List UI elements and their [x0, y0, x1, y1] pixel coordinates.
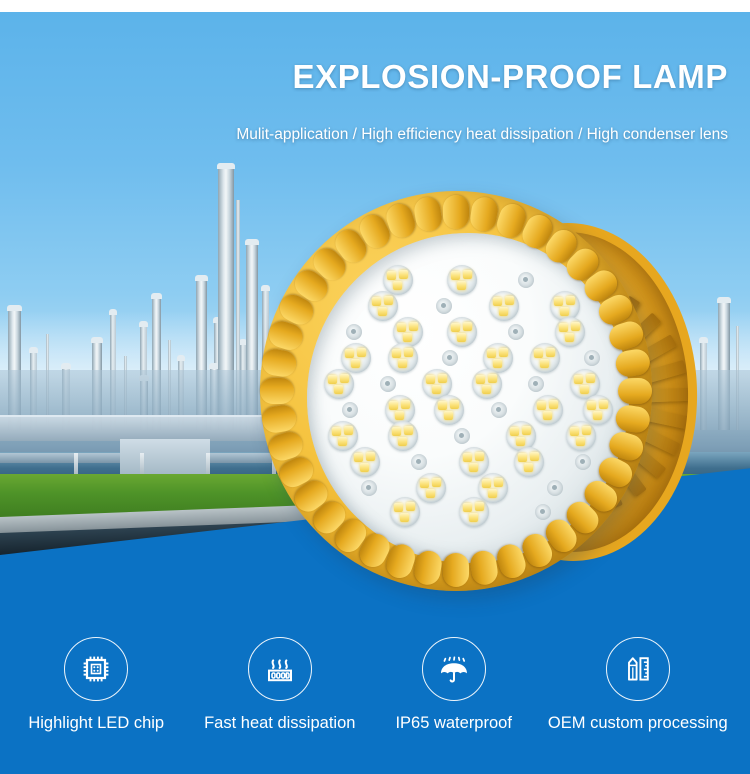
- lens-dimple: [442, 350, 458, 366]
- lens-dimple: [380, 376, 396, 392]
- feature-fast-heat-dissipation[interactable]: Fast heat dissipation: [204, 637, 355, 733]
- lens-dimple: [411, 454, 427, 470]
- page-subtitle: Mulit-application / High efficiency heat…: [0, 126, 750, 144]
- lens-dimple: [547, 480, 563, 496]
- bezel-scallop: [443, 195, 469, 229]
- lens-dimple: [454, 428, 470, 444]
- lens-dimple: [575, 454, 591, 470]
- led-module: [459, 497, 489, 527]
- led-module: [393, 317, 423, 347]
- led-module: [530, 343, 560, 373]
- lens-dimple: [528, 376, 544, 392]
- page-title: EXPLOSION-PROOF LAMP: [0, 58, 750, 96]
- heat-waves-icon: [262, 652, 298, 686]
- led-module: [328, 421, 358, 451]
- led-module: [447, 317, 477, 347]
- feature-label: OEM custom processing: [548, 714, 728, 733]
- bezel-scallop: [260, 378, 294, 404]
- lens-dimple: [346, 324, 362, 340]
- lens-dimple: [491, 402, 507, 418]
- lens-dimple: [518, 272, 534, 288]
- bezel-scallop: [618, 378, 652, 404]
- chip-icon: [79, 652, 113, 686]
- feature-icon-circle: [606, 637, 670, 701]
- led-module: [489, 291, 519, 321]
- feature-label: IP65 waterproof: [395, 714, 511, 733]
- led-module: [533, 395, 563, 425]
- led-module: [459, 447, 489, 477]
- feature-label: Highlight LED chip: [28, 714, 164, 733]
- feature-oem-custom-processing[interactable]: OEM custom processing: [548, 637, 728, 733]
- feature-ip65-waterproof[interactable]: IP65 waterproof: [395, 637, 511, 733]
- led-module: [472, 369, 502, 399]
- top-white-strip: [0, 0, 750, 12]
- lens-dimple: [342, 402, 358, 418]
- product-banner: EXPLOSION-PROOF LAMP Mulit-application /…: [0, 0, 750, 774]
- feature-icon-circle: [64, 637, 128, 701]
- lamp-yellow-bezel: [260, 191, 652, 591]
- led-module: [324, 369, 354, 399]
- led-module: [390, 497, 420, 527]
- bezel-scallop: [443, 553, 469, 587]
- lens-dimple: [535, 504, 551, 520]
- lens-dimple: [436, 298, 452, 314]
- led-module: [383, 265, 413, 295]
- bezel-scallop: [412, 195, 443, 233]
- led-module: [350, 447, 380, 477]
- bezel-scallop: [260, 404, 298, 435]
- led-module: [416, 473, 446, 503]
- feature-icon-circle: [248, 637, 312, 701]
- lens-dimple: [361, 480, 377, 496]
- led-module: [514, 447, 544, 477]
- led-module: [478, 473, 508, 503]
- bezel-scallop: [469, 195, 500, 233]
- lens-dimple: [508, 324, 524, 340]
- led-module: [434, 395, 464, 425]
- led-module: [583, 395, 613, 425]
- led-module: [566, 421, 596, 451]
- feature-label: Fast heat dissipation: [204, 714, 355, 733]
- feature-strip: Highlight LED chip: [0, 634, 750, 774]
- pencil-ruler-icon: [621, 652, 655, 686]
- led-module: [447, 265, 477, 295]
- feature-highlight-led-chip[interactable]: Highlight LED chip: [28, 637, 164, 733]
- bezel-scallop: [260, 347, 298, 378]
- umbrella-icon: [436, 652, 472, 686]
- feature-icon-circle: [422, 637, 486, 701]
- explosion-proof-lamp-product: [248, 185, 688, 630]
- lens-dimple: [584, 350, 600, 366]
- led-module: [388, 421, 418, 451]
- led-module: [341, 343, 371, 373]
- led-module: [555, 317, 585, 347]
- led-module: [388, 343, 418, 373]
- led-module: [368, 291, 398, 321]
